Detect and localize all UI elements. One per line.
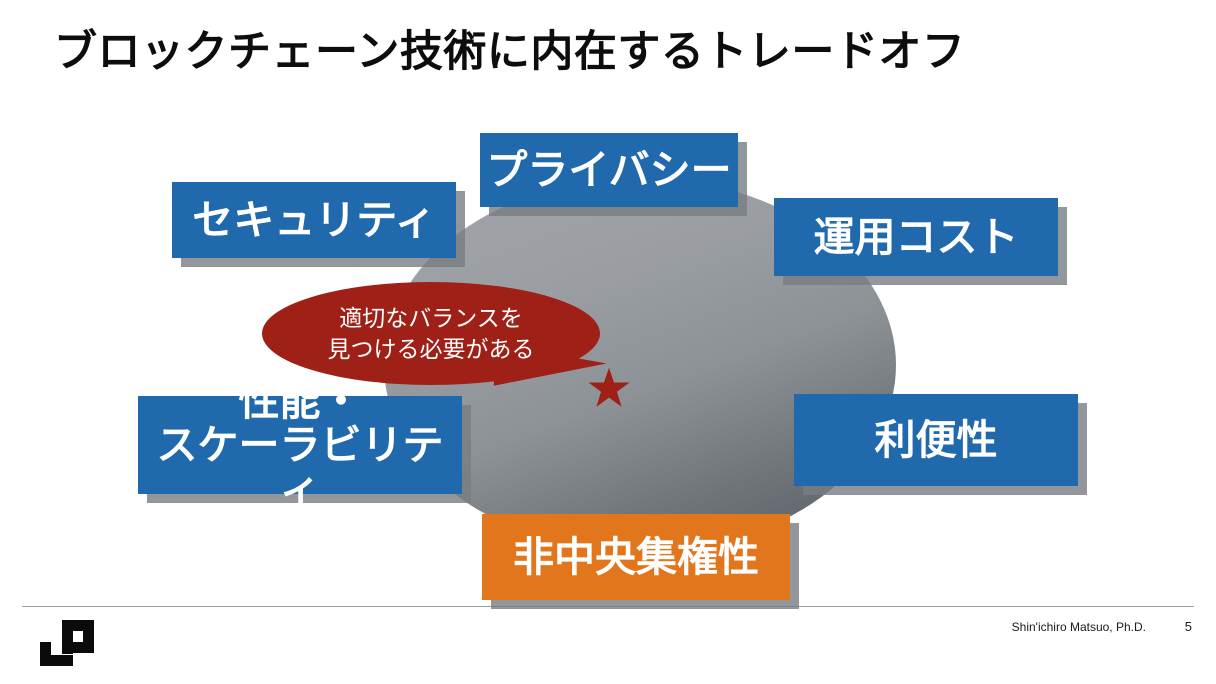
footer-divider: [22, 606, 1194, 607]
label-box-operation-cost[interactable]: 運用コスト: [774, 198, 1058, 276]
label-box-privacy[interactable]: プライバシー: [480, 133, 738, 207]
label-box-security-text: セキュリティ: [192, 198, 436, 242]
presenter-logo-icon: [38, 618, 96, 668]
page-number: 5: [1185, 619, 1192, 634]
page-title: ブロックチェーン技術に内在するトレードオフ: [54, 28, 1154, 77]
label-box-privacy-text: プライバシー: [486, 148, 731, 192]
footer-author: Shin'ichiro Matsuo, Ph.D.: [1012, 620, 1146, 634]
callout-bubble: 適切なバランスを 見つける必要がある: [262, 282, 600, 385]
label-box-performance[interactable]: 性能・ スケーラビリティ: [138, 396, 462, 494]
balance-callout[interactable]: 適切なバランスを 見つける必要がある: [262, 282, 614, 402]
label-box-decentralization-text: 非中央集権性: [513, 535, 759, 579]
label-box-decentralization[interactable]: 非中央集権性: [482, 514, 790, 600]
label-box-security[interactable]: セキュリティ: [172, 182, 456, 258]
label-box-operation-cost-text: 運用コスト: [814, 215, 1019, 259]
callout-text: 適切なバランスを 見つける必要がある: [328, 303, 535, 364]
slide-canvas: ブロックチェーン技術に内在するトレードオフ セキュリティ プライバシー 運用コス…: [0, 0, 1216, 684]
label-box-usability[interactable]: 利便性: [794, 394, 1078, 486]
label-box-usability-text: 利便性: [875, 418, 998, 462]
star-icon: [588, 367, 630, 409]
